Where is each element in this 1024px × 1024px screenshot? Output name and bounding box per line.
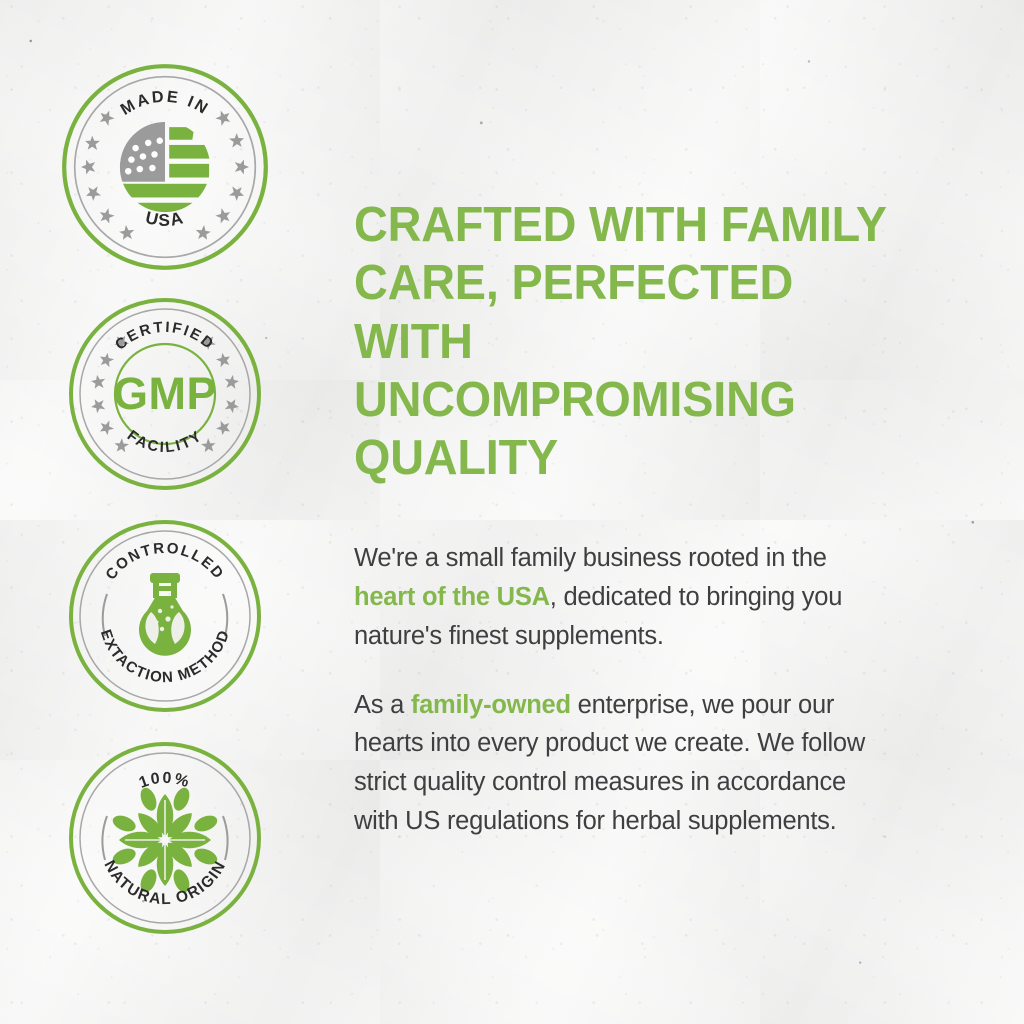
badge-top-label: MADE IN: [117, 88, 212, 119]
badge-left-arc: [102, 816, 107, 860]
page-title: CRAFTED WITH FAMILY CARE, PERFECTED WITH…: [354, 196, 889, 487]
body-paragraph-2: As a family-owned enterprise, we pour ou…: [354, 686, 894, 841]
badge-gmp-certified-facility[interactable]: GMP CERTIFIED FACILITY: [65, 294, 265, 494]
headline-line-3: UNCOMPROMISING: [354, 373, 796, 427]
paragraph-2-text-a: As a: [354, 691, 411, 719]
body-paragraph-1: We're a small family business rooted in …: [354, 539, 894, 655]
badge-controlled-extaction-method[interactable]: CONTROLLED EXTACTION METHOD: [65, 516, 265, 716]
badge-right-arc: [223, 816, 228, 860]
badge-top-label: 100%: [137, 770, 193, 792]
headline-line-1: CRAFTED WITH FAMILY: [354, 198, 887, 252]
brand-trust-panel: MADE IN USA: [0, 0, 1024, 1024]
badge-center-label: GMP: [113, 368, 217, 419]
paragraph-2-highlight: family-owned: [411, 691, 571, 719]
headline-line-4: QUALITY: [354, 431, 558, 485]
text-content-column: CRAFTED WITH FAMILY CARE, PERFECTED WITH…: [330, 0, 1024, 1024]
badge-bottom-label: FACILITY: [124, 427, 206, 456]
certification-badge-column: MADE IN USA: [0, 0, 330, 1024]
flask-leaf-icon: [139, 573, 191, 656]
paragraph-1-text-a: We're a small family business rooted in …: [354, 544, 827, 572]
badge-natural-origin[interactable]: 100% NATURAL ORIGIN: [65, 738, 265, 938]
badge-made-in-usa[interactable]: MADE IN USA: [60, 62, 270, 272]
badge-top-label: CERTIFIED: [112, 319, 218, 354]
headline-line-2: CARE, PERFECTED WITH: [354, 256, 793, 368]
badge-bottom-label: USA: [144, 207, 187, 230]
paragraph-1-highlight: heart of the USA: [354, 583, 550, 611]
